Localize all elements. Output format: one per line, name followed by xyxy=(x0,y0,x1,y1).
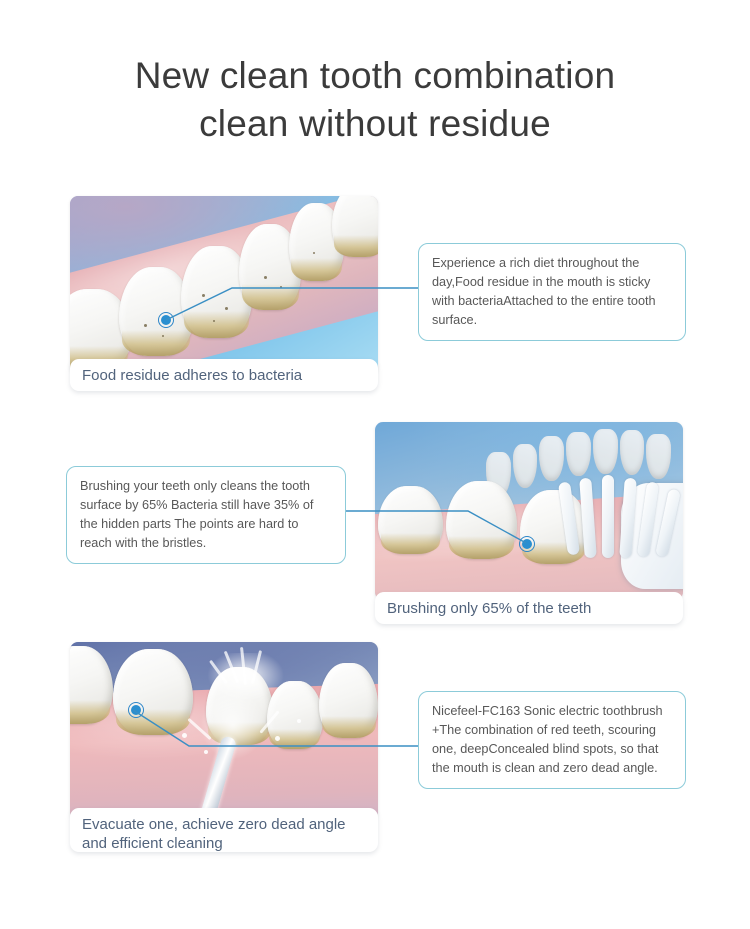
panel-2-callout-text: Brushing your teeth only cleans the toot… xyxy=(80,479,313,550)
panel-1-callout: Experience a rich diet throughout the da… xyxy=(418,243,686,341)
panel-3-callout: Nicefeel-FC163 Sonic electric toothbrush… xyxy=(418,691,686,789)
panel-1-residue-marker xyxy=(158,312,174,328)
water-spray xyxy=(162,653,322,792)
page-title-line-2: clean without residue xyxy=(0,100,750,148)
panel-2-hidden-part-marker xyxy=(519,536,535,552)
plaque-deposit xyxy=(449,536,514,559)
plaque-deposit xyxy=(184,311,249,339)
tooth xyxy=(446,481,517,559)
marker-dot-icon xyxy=(131,705,141,715)
panel-1-image xyxy=(70,196,378,374)
panel-1-caption-text: Food residue adheres to bacteria xyxy=(82,367,302,384)
panel-2-callout: Brushing your teeth only cleans the toot… xyxy=(66,466,346,564)
page-title-line-1: New clean tooth combination xyxy=(135,55,616,96)
plaque-deposit xyxy=(381,533,440,553)
panel-3-callout-text: Nicefeel-FC163 Sonic electric toothbrush… xyxy=(432,704,663,775)
plaque-deposit xyxy=(122,330,190,357)
panel-3-caption-text: Evacuate one, achieve zero dead angle an… xyxy=(82,816,346,852)
product-infographic-page: New clean tooth combination clean withou… xyxy=(0,0,750,929)
panel-1-callout-text: Experience a rich diet throughout the da… xyxy=(432,256,656,327)
toothbrush-bristles xyxy=(560,475,683,592)
tooth xyxy=(332,196,378,257)
panel-3-zero-dead-angle-marker xyxy=(128,702,144,718)
page-title: New clean tooth combination clean withou… xyxy=(0,52,750,148)
panel-3-image xyxy=(70,642,378,820)
plaque-deposit xyxy=(242,284,299,310)
panel-3-caption: Evacuate one, achieve zero dead angle an… xyxy=(70,808,378,852)
plaque-deposit xyxy=(291,258,342,281)
panel-2-caption-text: Brushing only 65% of the teeth xyxy=(387,600,591,617)
plaque-deposit xyxy=(334,235,378,256)
tooth xyxy=(378,486,443,554)
plaque-deposit xyxy=(322,716,376,738)
panel-2-caption: Brushing only 65% of the teeth xyxy=(375,592,683,624)
tooth xyxy=(319,663,378,738)
marker-dot-icon xyxy=(161,315,171,325)
marker-dot-icon xyxy=(522,539,532,549)
panel-1-caption: Food residue adheres to bacteria xyxy=(70,359,378,391)
panel-2-image xyxy=(375,422,683,600)
